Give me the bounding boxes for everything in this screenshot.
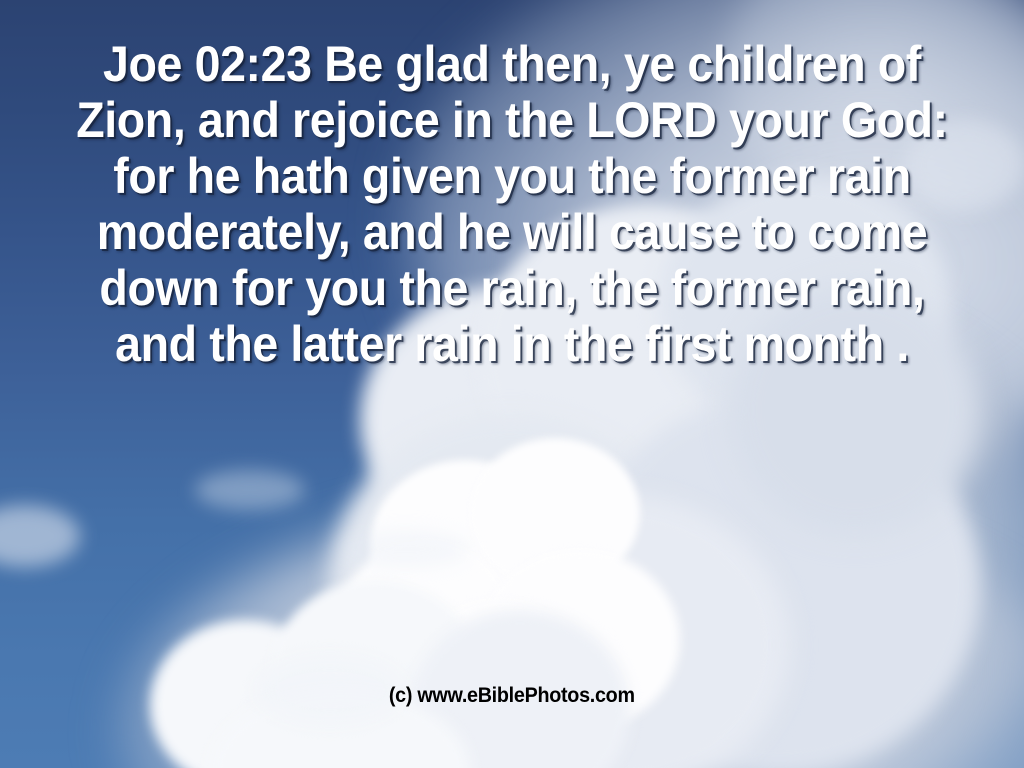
cloud-blob (730, 285, 980, 535)
lower-cumulus-puff (150, 560, 670, 768)
cloud-wisp (905, 120, 1024, 210)
cloud-wisp (340, 530, 470, 568)
verse-image-canvas: Joe 02:23 Be glad then, ye children of Z… (0, 0, 1024, 768)
cloud-wisp (255, 655, 405, 725)
cloud-layer (0, 0, 1024, 768)
cloud-wisp (0, 505, 80, 567)
cloud-wisp (195, 470, 305, 510)
